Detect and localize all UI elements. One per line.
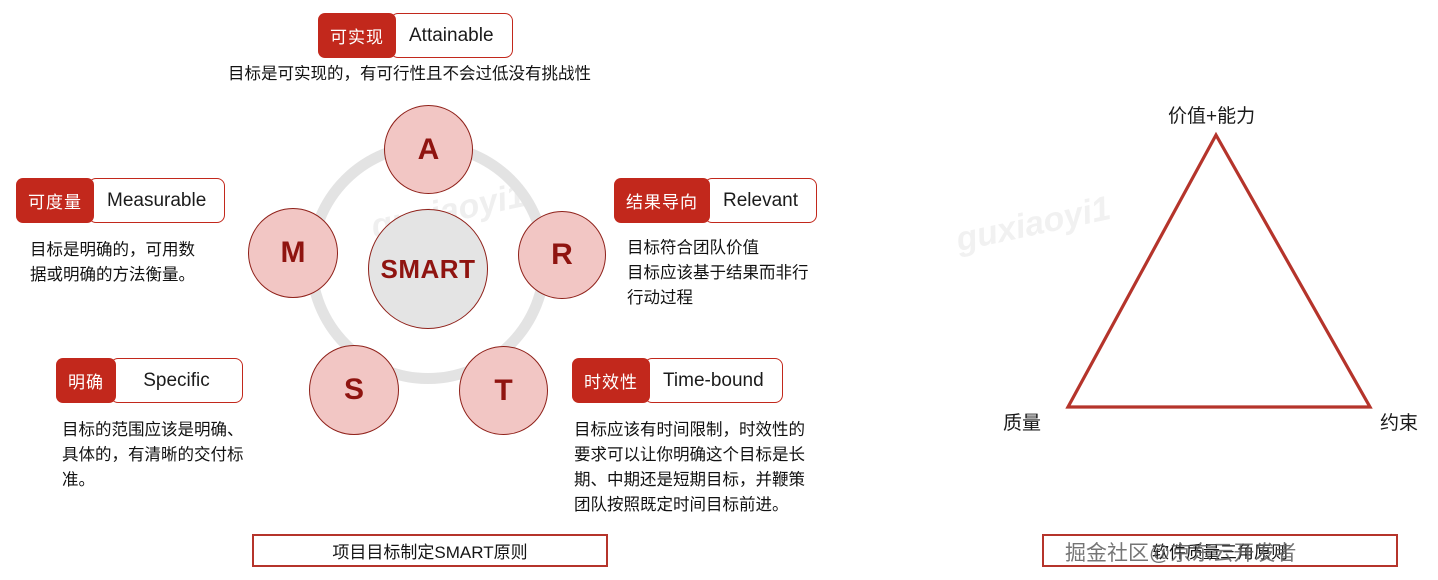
triangle-vertex-bottom-left-label: 质量: [1003, 408, 1041, 435]
smart-center-node: SMART: [368, 209, 488, 329]
pill-measurable[interactable]: 可度量 Measurable: [16, 178, 225, 223]
quality-triangle: [1050, 125, 1390, 420]
triangle-vertex-apex-label: 价值+能力: [1168, 101, 1255, 128]
caption-quality-triangle: 软件质量三角原则: [1042, 534, 1398, 567]
pill-time-bound[interactable]: 时效性 Time-bound: [572, 358, 783, 403]
desc-time-bound: 目标应该有时间限制，时效性的 要求可以让你明确这个目标是长 期、中期还是短期目标…: [574, 418, 854, 518]
diagram-canvas: guxiaoyi1 SMART A M R S T 可实现 Attainable…: [0, 0, 1438, 580]
triangle-shape-icon: [1050, 125, 1390, 420]
desc-measurable: 目标是明确的，可用数 据或明确的方法衡量。: [30, 238, 250, 288]
pill-measurable-label: Measurable: [88, 178, 225, 223]
node-letter-m[interactable]: M: [248, 208, 338, 298]
pill-time-bound-label: Time-bound: [644, 358, 783, 403]
pill-relevant[interactable]: 结果导向 Relevant: [614, 178, 817, 223]
pill-relevant-tag: 结果导向: [614, 178, 710, 223]
triangle-vertex-bottom-right-label: 约束: [1380, 408, 1418, 435]
pill-specific[interactable]: 明确 Specific: [56, 358, 243, 403]
node-letter-t[interactable]: T: [459, 346, 548, 435]
pill-relevant-label: Relevant: [704, 178, 817, 223]
node-letter-r[interactable]: R: [518, 211, 606, 299]
node-letter-s[interactable]: S: [309, 345, 399, 435]
pill-attainable[interactable]: 可实现 Attainable: [318, 13, 513, 58]
pill-measurable-tag: 可度量: [16, 178, 94, 223]
pill-attainable-tag: 可实现: [318, 13, 396, 58]
desc-relevant: 目标符合团队价值 目标应该基于结果而非行 行动过程: [627, 236, 857, 311]
pill-time-bound-tag: 时效性: [572, 358, 650, 403]
caption-smart-principle: 项目目标制定SMART原则: [252, 534, 608, 567]
node-letter-a[interactable]: A: [384, 105, 473, 194]
pill-specific-tag: 明确: [56, 358, 116, 403]
desc-specific: 目标的范围应该是明确、 具体的，有清晰的交付标 准。: [62, 418, 287, 493]
pill-attainable-label: Attainable: [390, 13, 513, 58]
pill-specific-label: Specific: [110, 358, 243, 403]
desc-attainable: 目标是可实现的，有可行性且不会过低没有挑战性: [228, 62, 648, 87]
